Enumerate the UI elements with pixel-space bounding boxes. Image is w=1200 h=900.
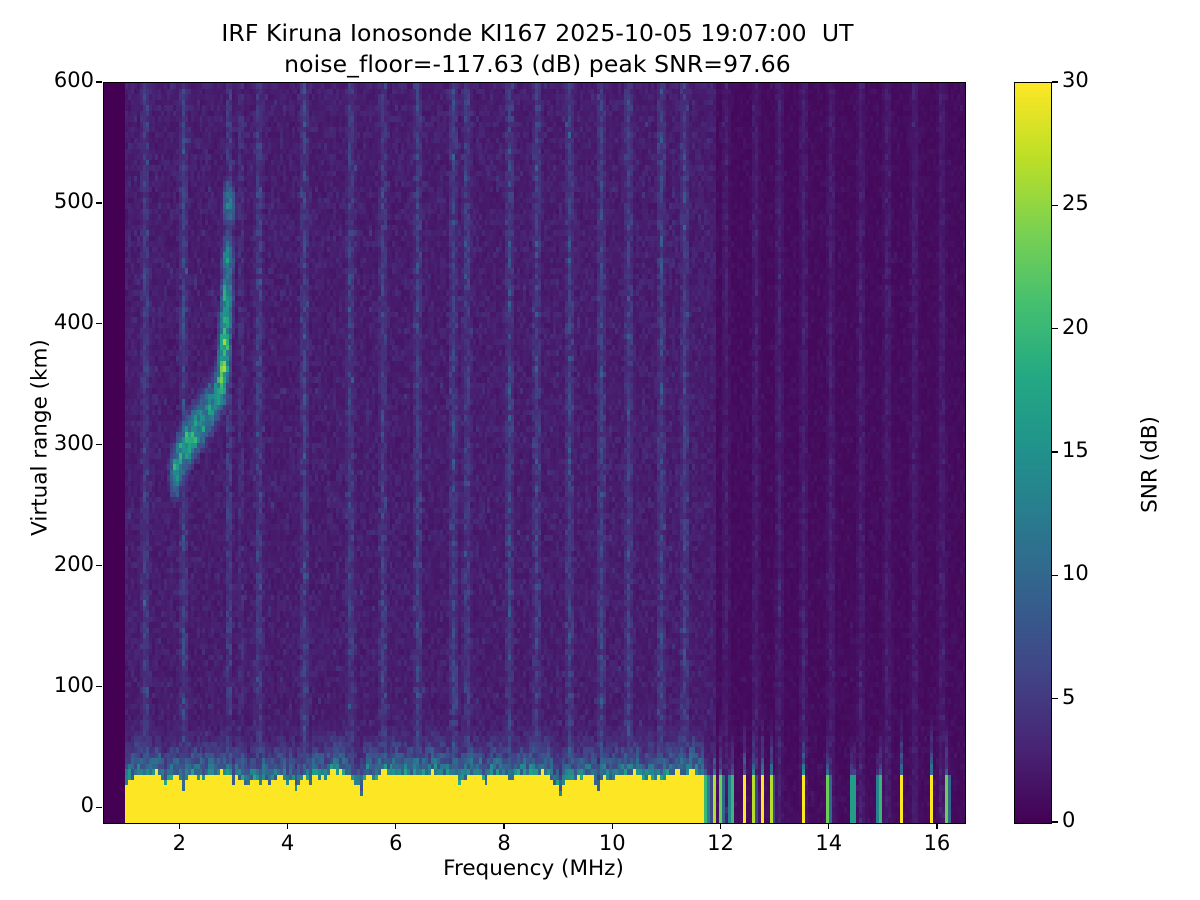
title-line-2: noise_floor=-117.63 (dB) peak SNR=97.66 — [0, 49, 1075, 80]
ionogram-heatmap — [104, 83, 965, 823]
y-tick-mark — [96, 686, 102, 687]
ionogram-figure: IRF Kiruna Ionosonde KI167 2025-10-05 19… — [0, 0, 1200, 900]
x-tick-label: 14 — [799, 831, 859, 855]
colorbar-tick-label: 20 — [1062, 315, 1132, 339]
y-tick-mark — [96, 202, 102, 203]
colorbar-gradient — [1015, 83, 1051, 823]
x-tick-mark — [720, 823, 721, 829]
y-tick-mark — [96, 81, 102, 82]
colorbar-tick-mark — [1052, 81, 1058, 82]
title-line-1: IRF Kiruna Ionosonde KI167 2025-10-05 19… — [0, 18, 1075, 49]
colorbar-tick-mark — [1052, 698, 1058, 699]
x-tick-mark — [612, 823, 613, 829]
y-tick-mark — [96, 444, 102, 445]
colorbar-tick-label: 0 — [1062, 808, 1132, 832]
x-tick-label: 4 — [258, 831, 318, 855]
x-tick-mark — [395, 823, 396, 829]
x-tick-label: 10 — [582, 831, 642, 855]
y-tick-label: 0 — [4, 793, 94, 817]
y-axis-label: Virtual range (km) — [28, 238, 53, 638]
x-tick-mark — [179, 823, 180, 829]
y-tick-label: 600 — [4, 68, 94, 92]
x-tick-mark — [828, 823, 829, 829]
x-tick-mark — [287, 823, 288, 829]
figure-title: IRF Kiruna Ionosonde KI167 2025-10-05 19… — [0, 18, 1075, 79]
x-tick-mark — [503, 823, 504, 829]
colorbar-tick-label: 30 — [1062, 68, 1132, 92]
x-tick-label: 16 — [907, 831, 967, 855]
colorbar-tick-label: 15 — [1062, 438, 1132, 462]
colorbar-tick-mark — [1052, 328, 1058, 329]
x-tick-label: 6 — [366, 831, 426, 855]
y-tick-mark — [96, 565, 102, 566]
x-tick-mark — [936, 823, 937, 829]
colorbar-label: SNR (dB) — [1138, 315, 1163, 615]
colorbar-tick-mark — [1052, 575, 1058, 576]
ionogram-plot-area — [103, 82, 966, 824]
y-tick-mark — [96, 323, 102, 324]
colorbar — [1014, 82, 1052, 824]
y-tick-label: 100 — [4, 673, 94, 697]
x-tick-label: 2 — [149, 831, 209, 855]
colorbar-tick-label: 25 — [1062, 191, 1132, 215]
x-tick-label: 8 — [474, 831, 534, 855]
colorbar-tick-mark — [1052, 821, 1058, 822]
x-axis-label: Frequency (MHz) — [103, 856, 964, 881]
colorbar-tick-mark — [1052, 205, 1058, 206]
y-tick-label: 500 — [4, 189, 94, 213]
x-tick-label: 12 — [690, 831, 750, 855]
y-tick-mark — [96, 807, 102, 808]
colorbar-tick-label: 5 — [1062, 685, 1132, 709]
colorbar-tick-mark — [1052, 451, 1058, 452]
colorbar-tick-label: 10 — [1062, 561, 1132, 585]
